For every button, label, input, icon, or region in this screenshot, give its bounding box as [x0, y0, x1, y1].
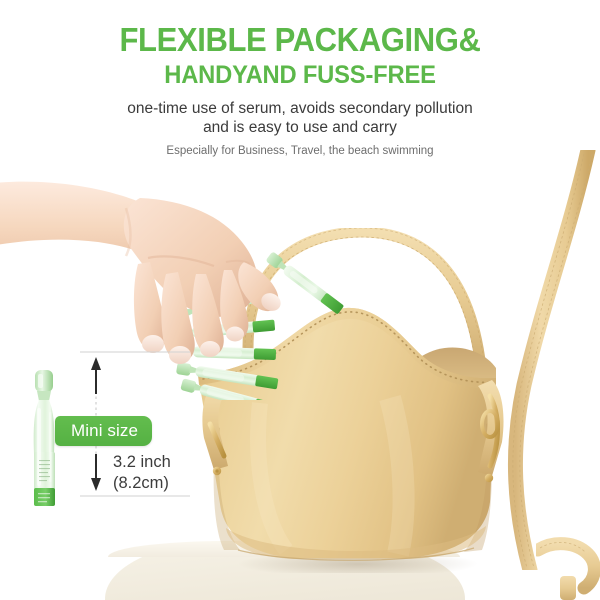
- product-marketing-image: Mini size 3.2 inch (8.2cm) FLEXIBLE PACK…: [0, 0, 600, 600]
- dimension-text: 3.2 inch (8.2cm): [113, 452, 171, 494]
- headline-primary: FLEXIBLE PACKAGING&: [18, 22, 582, 58]
- dimension-cm: (8.2cm): [113, 473, 171, 494]
- header-text-block: FLEXIBLE PACKAGING& HANDYAND FUSS-FREE o…: [0, 22, 600, 158]
- headline-secondary: HANDYAND FUSS-FREE: [15, 60, 585, 91]
- subtitle-line-1: one-time use of serum, avoids secondary …: [0, 100, 600, 119]
- mini-size-badge: Mini size: [55, 416, 152, 446]
- dimension-inch: 3.2 inch: [113, 452, 171, 473]
- subtitle-line-2: and is easy to use and carry: [0, 119, 600, 138]
- arrow-down-icon: [91, 454, 101, 491]
- strap-loop-piece: [536, 536, 600, 600]
- mini-size-badge-label: Mini size: [71, 421, 138, 441]
- caption-line: Especially for Business, Travel, the bea…: [0, 145, 600, 159]
- arrow-up-icon: [91, 357, 101, 394]
- held-serum-vial: [255, 248, 355, 348]
